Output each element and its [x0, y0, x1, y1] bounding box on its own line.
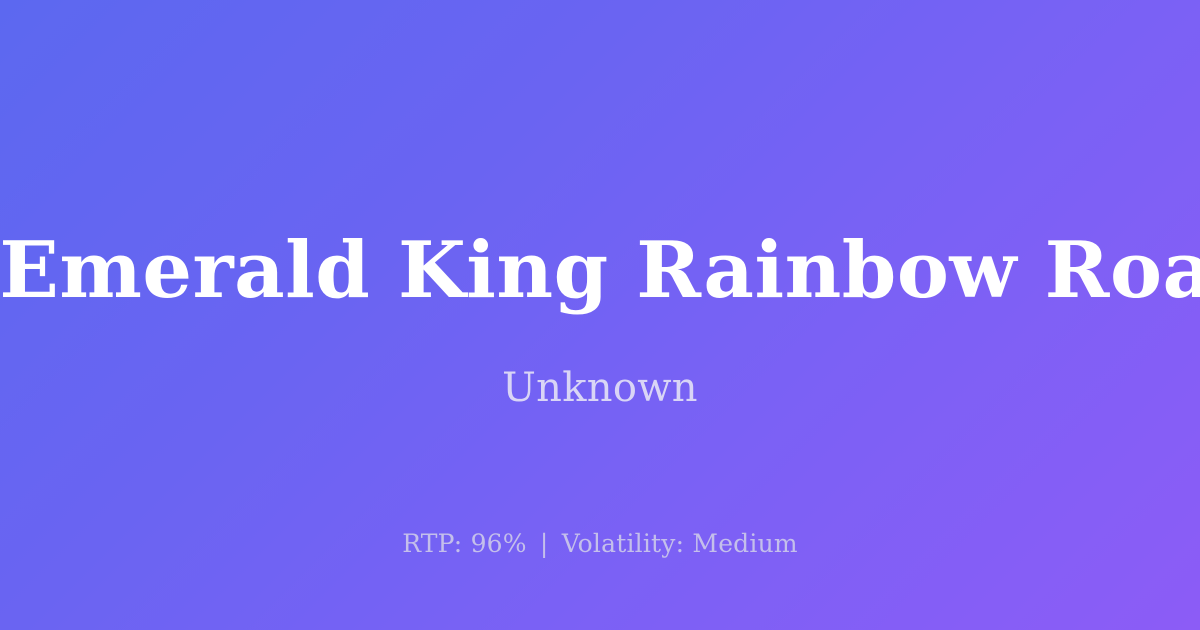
- rtp-label: RTP:: [402, 529, 462, 558]
- rtp-value: 96%: [471, 529, 527, 558]
- meta-separator: |: [535, 529, 554, 558]
- og-share-card: 1F B0 Emerald King Rainbow Road Unknown …: [0, 0, 1200, 630]
- page-title: Emerald King Rainbow Road: [0, 232, 1200, 310]
- card-subtitle: Unknown: [0, 365, 1200, 411]
- card-meta: RTP: 96% | Volatility: Medium: [0, 529, 1200, 558]
- card-content: 1F B0 Emerald King Rainbow Road Unknown …: [0, 0, 1200, 630]
- title-row: 1F B0 Emerald King Rainbow Road: [0, 232, 1200, 310]
- volatility-label: Volatility:: [562, 529, 685, 558]
- volatility-value: Medium: [692, 529, 797, 558]
